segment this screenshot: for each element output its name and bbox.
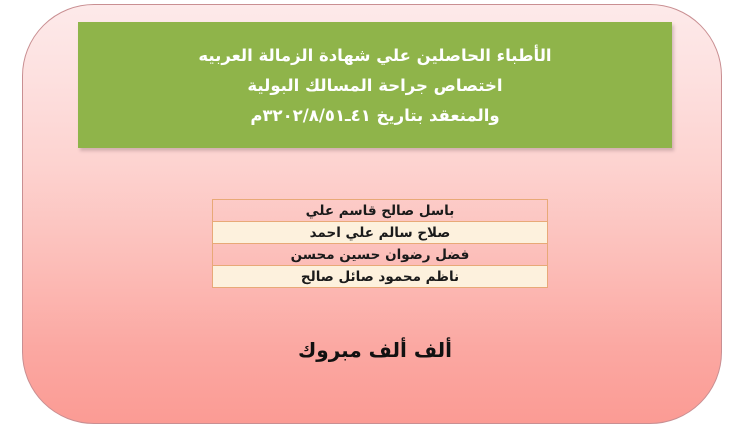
name-cell: صلاح سالم علي احمد xyxy=(213,222,548,244)
table-row: صلاح سالم علي احمد xyxy=(213,222,548,244)
header-line-specialty: اختصاص جراحة المسالك البولية xyxy=(247,71,502,101)
name-cell: باسل صالح قاسم علي xyxy=(213,200,548,222)
table-row: باسل صالح قاسم علي xyxy=(213,200,548,222)
names-table: باسل صالح قاسم علي صلاح سالم علي احمد فض… xyxy=(212,199,548,288)
congratulation-text: ألف ألف مبروك xyxy=(0,338,750,362)
header-banner: الأطباء الحاصلين علي شهادة الزمالة العرب… xyxy=(78,22,672,148)
name-cell: فضل رضوان حسين محسن xyxy=(213,244,548,266)
header-line-date: والمنعقد بتاريخ ١٤ـ١٥/٨/٢٠٢٣م xyxy=(250,101,499,131)
header-line-title: الأطباء الحاصلين علي شهادة الزمالة العرب… xyxy=(198,41,551,71)
certificate-page: الأطباء الحاصلين علي شهادة الزمالة العرب… xyxy=(0,0,750,430)
name-cell: ناظم محمود صائل صالح xyxy=(213,266,548,288)
table-row: فضل رضوان حسين محسن xyxy=(213,244,548,266)
table-row: ناظم محمود صائل صالح xyxy=(213,266,548,288)
